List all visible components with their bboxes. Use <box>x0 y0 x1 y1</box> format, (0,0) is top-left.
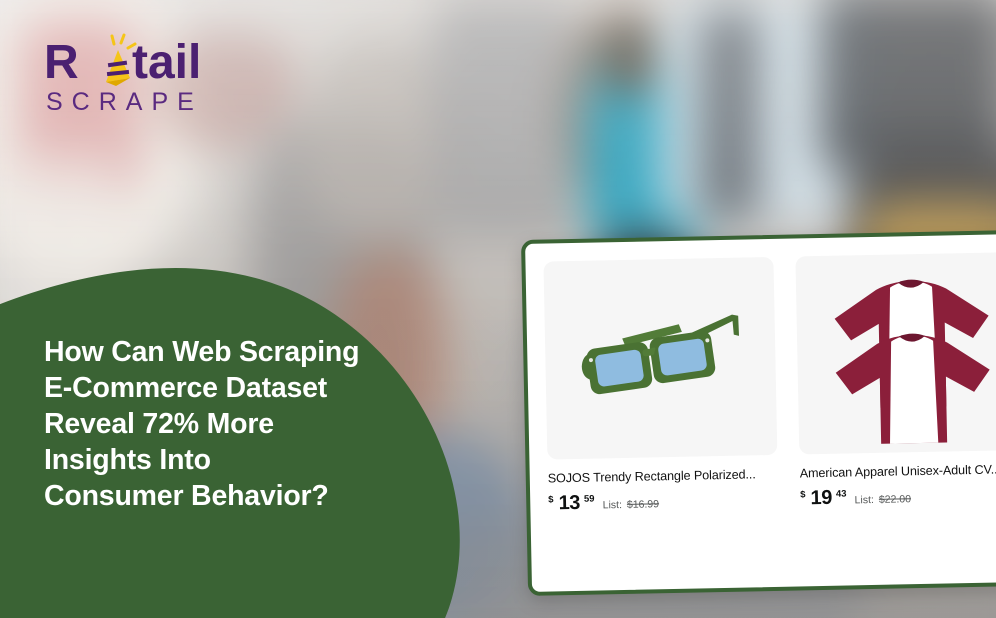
list-price-value: $22.00 <box>879 493 911 506</box>
product-price: $ 13 59 List: $16.99 <box>548 488 778 516</box>
headline-line-2: E-Commerce Dataset <box>44 370 444 406</box>
product-card[interactable]: American Apparel Unisex-Adult CV... $ 19… <box>795 252 996 511</box>
logo-letters-tail: tail <box>132 36 201 89</box>
price-whole: 13 <box>558 492 580 515</box>
product-price: $ 19 43 List: $22.00 <box>800 483 996 511</box>
logo-letter-r: R <box>44 36 79 89</box>
product-title[interactable]: American Apparel Unisex-Adult CV... <box>800 462 996 481</box>
price-whole: 19 <box>810 487 832 510</box>
product-title[interactable]: SOJOS Trendy Rectangle Polarized... <box>548 467 778 486</box>
page-title: How Can Web Scraping E-Commerce Dataset … <box>44 334 444 514</box>
sunglasses-image <box>543 257 777 460</box>
headline-line-5: Consumer Behavior? <box>44 478 444 514</box>
currency-symbol: $ <box>548 494 554 505</box>
headline-line-4: Insights Into <box>44 442 444 478</box>
logo-word-scrape: SCRAPE <box>46 88 203 116</box>
list-price-label: List: <box>855 494 875 506</box>
price-fraction: 43 <box>836 489 847 500</box>
product-card[interactable]: SOJOS Trendy Rectangle Polarized... $ 13… <box>543 257 778 516</box>
list-price-label: List: <box>603 499 623 511</box>
currency-symbol: $ <box>800 489 806 500</box>
raglan-tshirt-image <box>795 252 996 455</box>
logo-retail-scrape[interactable]: R tail SCRAPE <box>44 28 244 120</box>
headline-line-1: How Can Web Scraping <box>44 334 444 370</box>
hero-banner: R tail SCRAPE How Can Web Scraping E-Com… <box>0 0 996 618</box>
product-panel: SOJOS Trendy Rectangle Polarized... $ 13… <box>521 230 996 596</box>
list-price-value: $16.99 <box>627 498 659 511</box>
price-fraction: 59 <box>584 494 595 505</box>
headline-line-3: Reveal 72% More <box>44 406 444 442</box>
party-popper-icon <box>106 35 135 86</box>
